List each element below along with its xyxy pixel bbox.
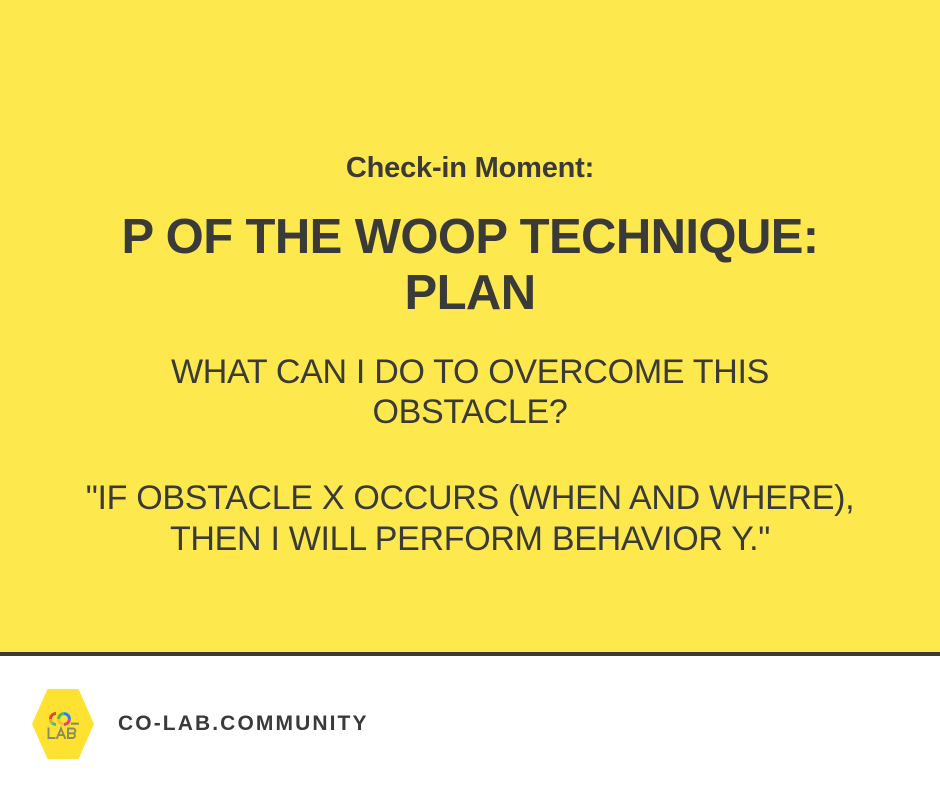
- body-line-question: WHAT CAN I DO TO OVERCOME THIS OBSTACLE?: [82, 352, 858, 432]
- eyebrow-label: Check-in Moment:: [40, 152, 900, 184]
- co-lab-monogram-icon: [43, 704, 83, 744]
- co-lab-logo[interactable]: [32, 689, 94, 759]
- footer-bar: CO-LAB.COMMUNITY: [0, 660, 940, 788]
- footer-brand-label[interactable]: CO-LAB.COMMUNITY: [118, 712, 369, 736]
- hero-content: Check-in Moment: P OF THE WOOP TECHNIQUE…: [40, 152, 900, 559]
- hero-panel: Check-in Moment: P OF THE WOOP TECHNIQUE…: [0, 0, 940, 656]
- page-title: P OF THE WOOP TECHNIQUE: PLAN: [40, 210, 900, 322]
- woop-plan-slide: Check-in Moment: P OF THE WOOP TECHNIQUE…: [0, 0, 940, 788]
- body-block: WHAT CAN I DO TO OVERCOME THIS OBSTACLE?…: [40, 352, 900, 558]
- body-spacer: [82, 432, 858, 478]
- body-line-quote: "IF OBSTACLE X OCCURS (WHEN AND WHERE), …: [82, 478, 858, 558]
- hexagon-icon: [32, 689, 94, 759]
